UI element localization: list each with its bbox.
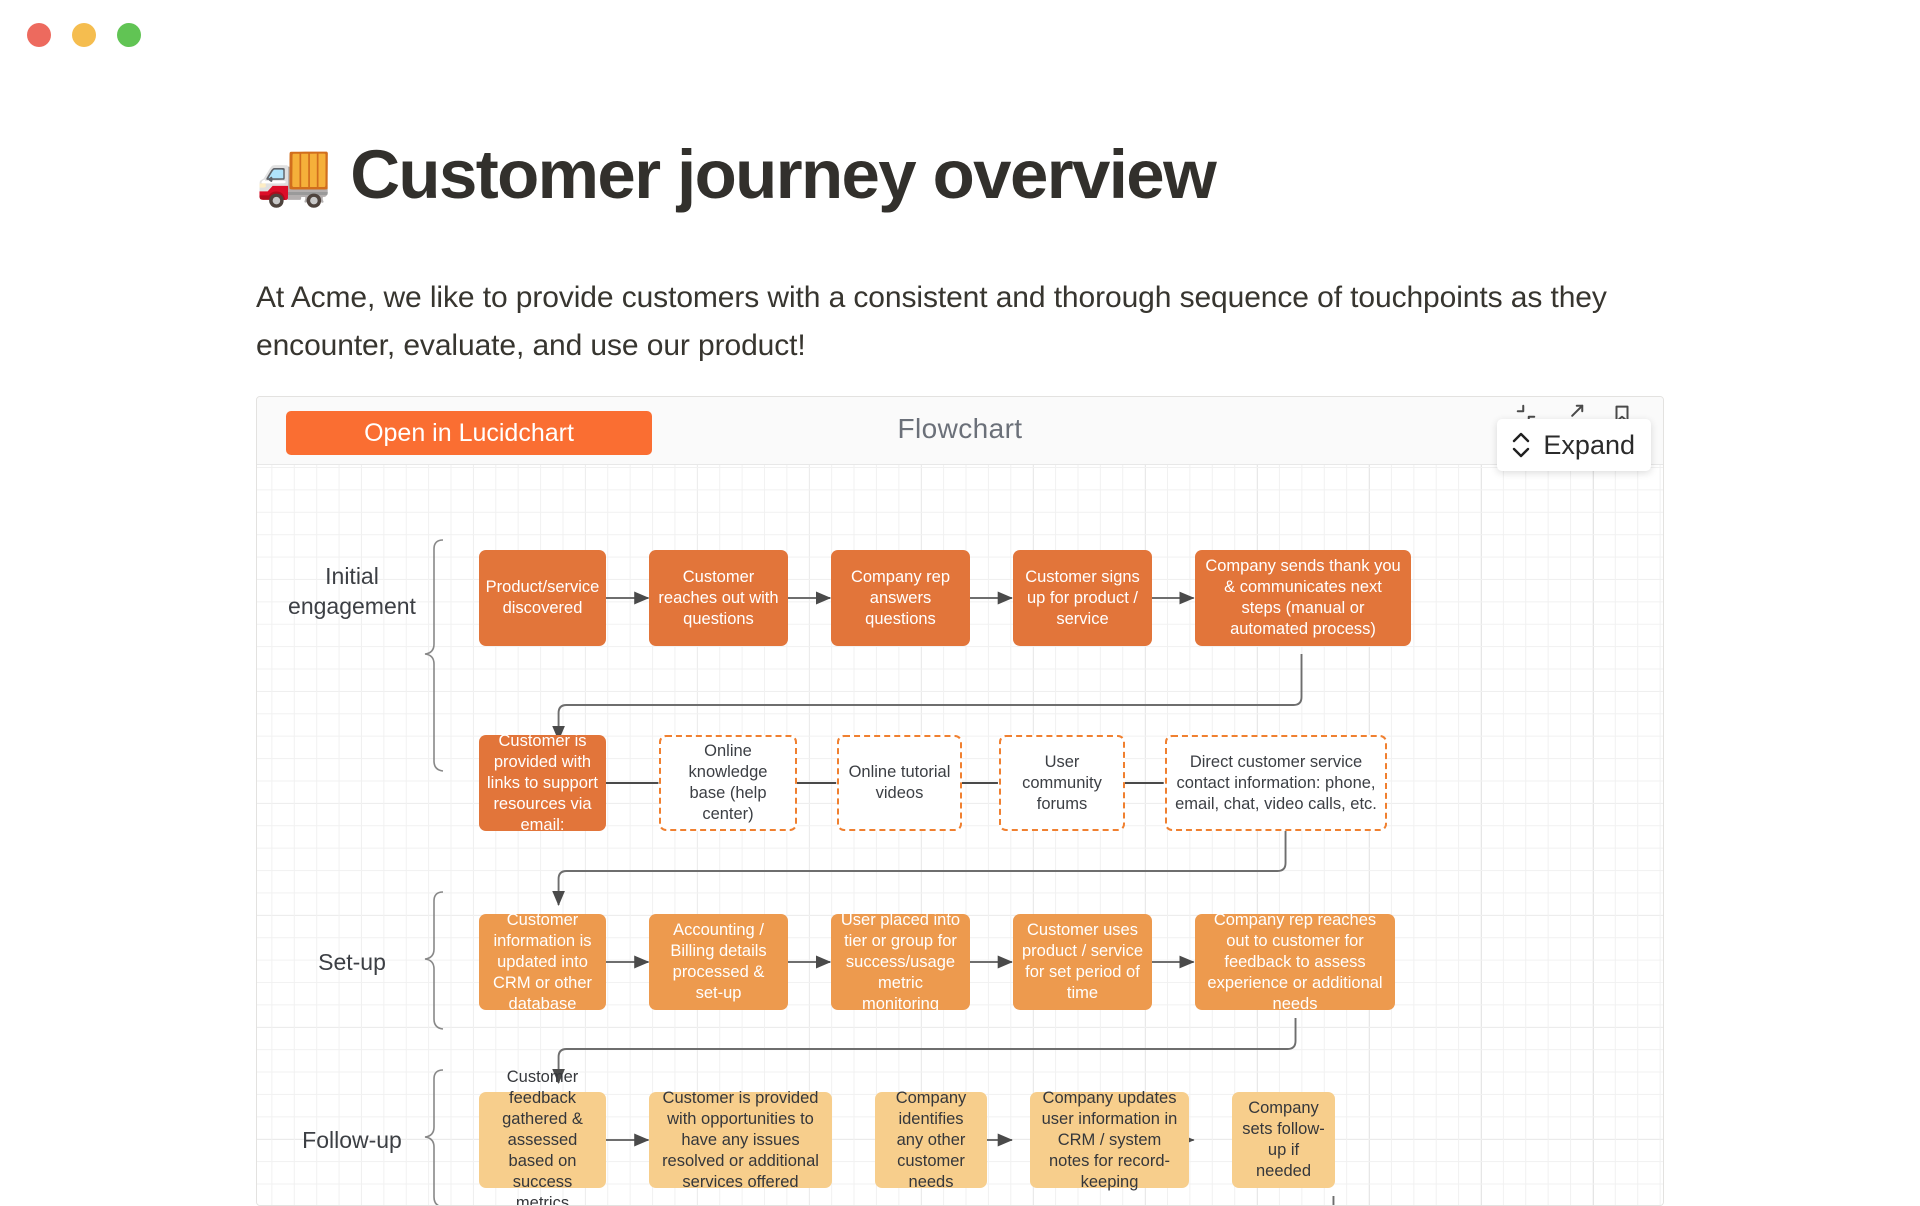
window-close-button[interactable] bbox=[27, 23, 51, 47]
brace-set-up bbox=[423, 890, 447, 1032]
section-label-initial-engagement: Initial engagement bbox=[287, 561, 417, 621]
flow-node[interactable]: Company sets follow-up if needed bbox=[1232, 1092, 1335, 1188]
flow-node[interactable]: Company rep answers questions bbox=[831, 550, 970, 646]
flow-node[interactable]: Product/service discovered bbox=[479, 550, 606, 646]
document-body: 🚚 Customer journey overview At Acme, we … bbox=[0, 70, 1920, 1200]
flow-node[interactable]: Company updates user information in CRM … bbox=[1030, 1092, 1189, 1188]
window-minimize-button[interactable] bbox=[72, 23, 96, 47]
embed-document-title: Flowchart bbox=[257, 413, 1663, 445]
section-label-set-up: Set-up bbox=[287, 947, 417, 977]
flow-node-dashed[interactable]: Online knowledge base (help center) bbox=[659, 735, 797, 831]
flow-node[interactable]: Company rep reaches out to customer for … bbox=[1195, 914, 1395, 1010]
expand-chevrons-icon bbox=[1509, 430, 1533, 460]
flow-node-dashed[interactable]: Online tutorial videos bbox=[837, 735, 962, 831]
flow-node[interactable]: Customer is provided with opportunities … bbox=[649, 1092, 832, 1188]
flow-node[interactable]: Customer feedback gathered & assessed ba… bbox=[479, 1092, 606, 1188]
flow-node[interactable]: Customer uses product / service for set … bbox=[1013, 914, 1152, 1010]
expand-tooltip-label: Expand bbox=[1543, 430, 1635, 461]
lucidchart-embed-panel[interactable]: Open in Lucidchart Flowchart Expand bbox=[256, 396, 1664, 1206]
page-title: 🚚 Customer journey overview bbox=[255, 135, 1215, 214]
flow-node[interactable]: Customer is provided with links to suppo… bbox=[479, 735, 606, 831]
flow-node-dashed[interactable]: User community forums bbox=[999, 735, 1125, 831]
flow-node[interactable]: Company identifies any other customer ne… bbox=[875, 1092, 987, 1188]
flow-node[interactable]: Customer reaches out with questions bbox=[649, 550, 788, 646]
intro-paragraph: At Acme, we like to provide customers wi… bbox=[256, 274, 1676, 370]
flow-node[interactable]: Company sends thank you & communicates n… bbox=[1195, 550, 1411, 646]
brace-follow-up bbox=[423, 1068, 447, 1206]
window-titlebar bbox=[0, 0, 1920, 70]
flow-node[interactable]: Customer signs up for product / service bbox=[1013, 550, 1152, 646]
expand-tooltip[interactable]: Expand bbox=[1497, 419, 1651, 471]
flow-node[interactable]: User placed into tier or group for succe… bbox=[831, 914, 970, 1010]
flow-node-dashed[interactable]: Direct customer service contact informat… bbox=[1165, 735, 1387, 831]
brace-initial-engagement bbox=[423, 538, 447, 773]
page-title-text: Customer journey overview bbox=[350, 135, 1215, 214]
flowchart-canvas[interactable]: Initial engagement Set-up Follow-up Prod… bbox=[257, 465, 1663, 1206]
flow-node[interactable]: Customer information is updated into CRM… bbox=[479, 914, 606, 1010]
section-label-follow-up: Follow-up bbox=[287, 1125, 417, 1155]
embed-toolbar: Open in Lucidchart Flowchart Expand bbox=[257, 397, 1663, 465]
window-maximize-button[interactable] bbox=[117, 23, 141, 47]
truck-icon: 🚚 bbox=[255, 144, 332, 206]
flow-node[interactable]: Accounting / Billing details processed &… bbox=[649, 914, 788, 1010]
